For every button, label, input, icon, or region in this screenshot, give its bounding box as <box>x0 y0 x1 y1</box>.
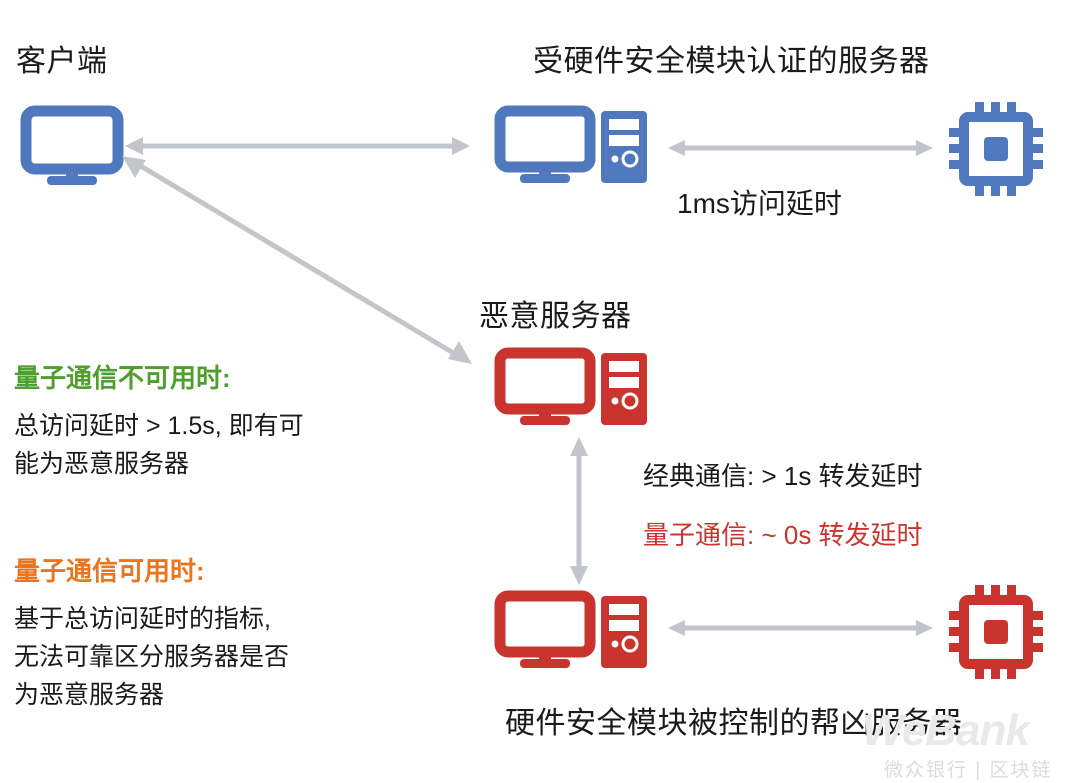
watermark-logo: WeBank <box>862 706 1029 756</box>
note-heading: 量子通信可用时: <box>14 551 444 588</box>
note-body-line: 基于总访问延时的指标, <box>14 600 444 638</box>
note-body-line: 能为恶意服务器 <box>14 445 444 483</box>
arrow-accomplice-server-chip <box>668 614 933 642</box>
arrow-hsm-server-chip <box>668 134 933 162</box>
accomplice-desktop-tower-icon <box>497 594 652 674</box>
hsm-access-latency-label: 1ms访问延时 <box>677 182 842 222</box>
note-body-line: 无法可靠区分服务器是否 <box>14 638 444 676</box>
client-title: 客户端 <box>16 36 108 80</box>
hsm-desktop-tower-icon <box>497 109 652 189</box>
accomplice-chip-icon <box>947 583 1045 681</box>
note-block-quantum-available: 量子通信可用时: 基于总访问延时的指标, 无法可靠区分服务器是否 为恶意服务器 <box>14 551 444 714</box>
note-body-line: 总访问延时 > 1.5s, 即有可 <box>14 407 444 445</box>
arrow-client-malicious-server <box>122 152 472 367</box>
client-monitor-icon <box>22 108 127 188</box>
watermark-subtitle: 微众银行 | 区块链 <box>884 755 1053 782</box>
diagram-canvas: 客户端 受硬件安全模块认证的服务器 恶意服务器 硬件安全模块被控制的帮凶服务器 <box>0 0 1080 783</box>
quantum-forward-latency-label: 量子通信: ~ 0s 转发延时 <box>643 517 923 554</box>
hsm-server-title: 受硬件安全模块认证的服务器 <box>533 36 930 80</box>
classical-forward-latency-label: 经典通信: > 1s 转发延时 <box>643 458 923 495</box>
note-body-line: 为恶意服务器 <box>14 676 444 714</box>
arrow-malicious-accomplice-server <box>564 437 594 585</box>
hsm-chip-icon <box>947 100 1045 198</box>
note-heading: 量子通信不可用时: <box>14 358 444 395</box>
malicious-desktop-tower-icon <box>497 351 652 431</box>
note-block-quantum-unavailable: 量子通信不可用时: 总访问延时 > 1.5s, 即有可 能为恶意服务器 <box>14 358 444 483</box>
malicious-server-title: 恶意服务器 <box>479 291 632 335</box>
